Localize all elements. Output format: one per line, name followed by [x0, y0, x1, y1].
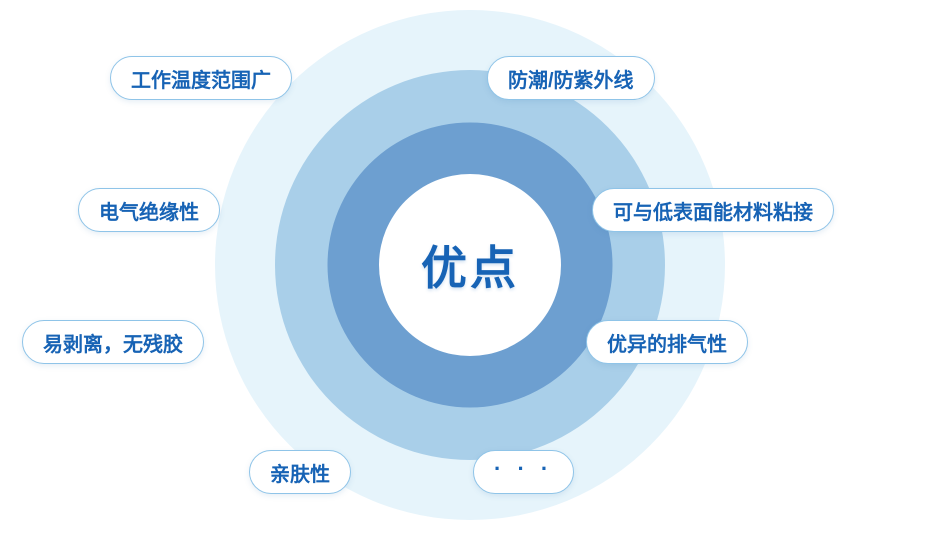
chip-moisture-uv[interactable]: 防潮/防紫外线: [487, 56, 655, 100]
chip-more[interactable]: · · ·: [473, 450, 574, 494]
diagram-canvas: 优点 工作温度范围广 防潮/防紫外线 电气绝缘性 可与低表面能材料粘接 易剥离，…: [0, 0, 940, 533]
chip-electrical-insulation[interactable]: 电气绝缘性: [78, 188, 220, 232]
chip-easy-peel[interactable]: 易剥离，无残胶: [22, 320, 204, 364]
chip-low-surface-energy[interactable]: 可与低表面能材料粘接: [592, 188, 834, 232]
chip-temperature-range[interactable]: 工作温度范围广: [110, 56, 292, 100]
chip-skin-friendly[interactable]: 亲肤性: [249, 450, 351, 494]
center-label: 优点: [421, 232, 519, 298]
chip-excellent-venting[interactable]: 优异的排气性: [586, 320, 748, 364]
